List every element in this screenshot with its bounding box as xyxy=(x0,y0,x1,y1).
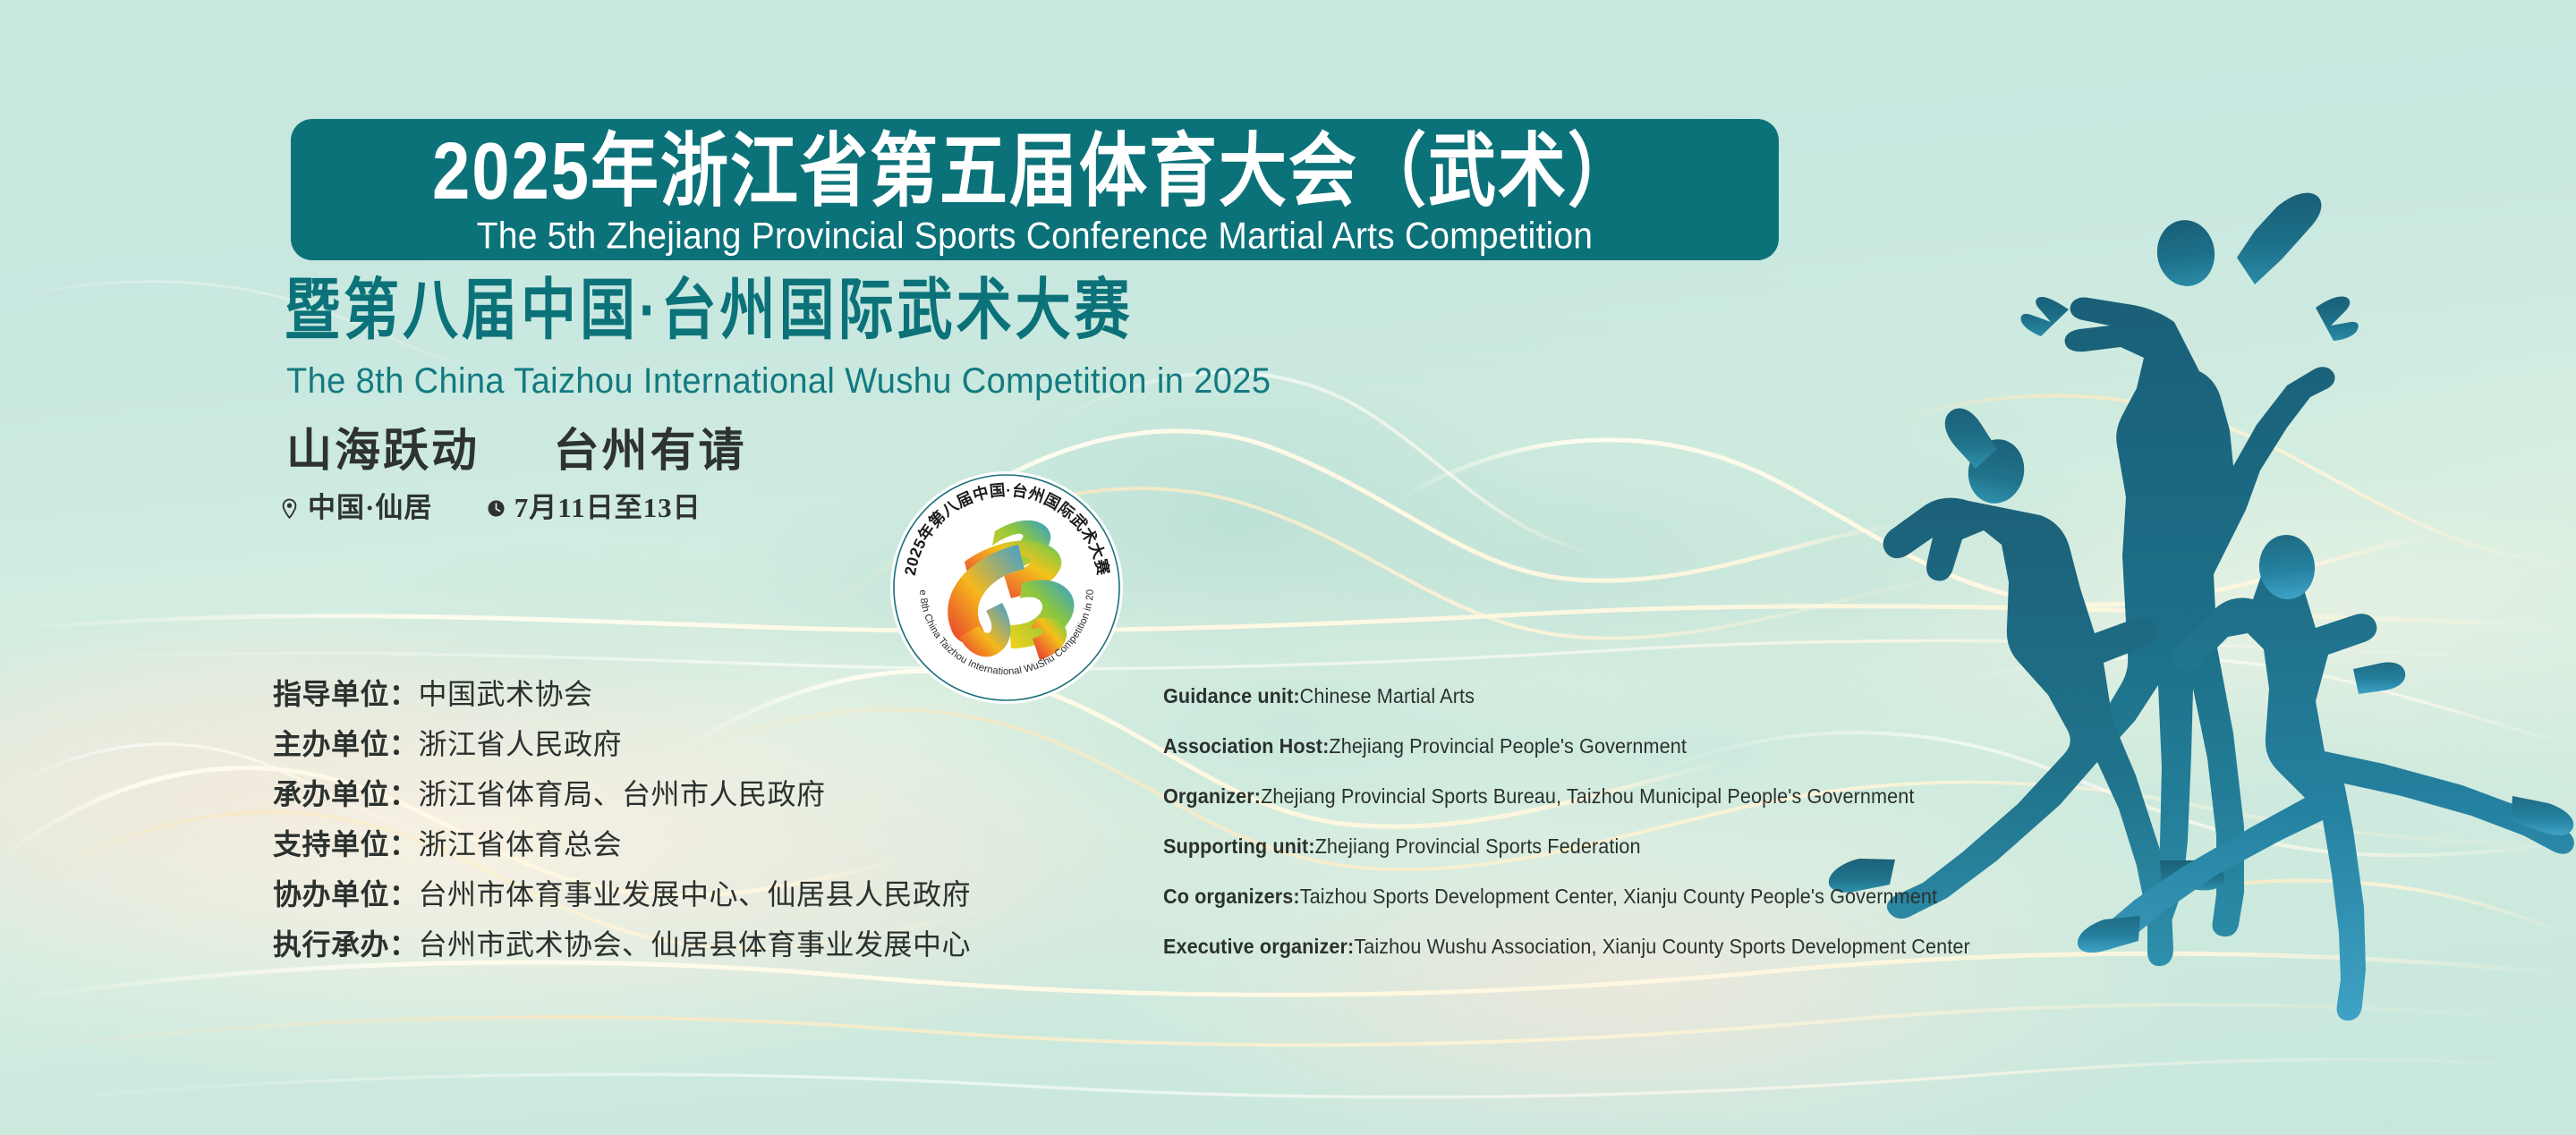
credit-label: Executive organizer: xyxy=(1163,935,1354,958)
credit-row: 主办单位：浙江省人民政府 xyxy=(273,719,971,769)
credit-label: Supporting unit: xyxy=(1163,834,1315,858)
slogan-part-1: 山海跃动 xyxy=(286,425,480,479)
event-meta-row: 中国·仙居 7月11日至13日 xyxy=(279,492,701,524)
event-location-text: 中国·仙居 xyxy=(308,492,432,524)
credit-value: Zhejiang Provincial People's Government xyxy=(1329,734,1687,758)
clock-icon xyxy=(486,498,506,519)
credit-value: 台州市体育事业发展中心、仙居县人民政府 xyxy=(419,878,972,911)
poster-canvas: 2025年浙江省第五届体育大会（武术） The 5th Zhejiang Pro… xyxy=(0,0,2576,1135)
credit-value: Taizhou Sports Development Center, Xianj… xyxy=(1300,885,1937,908)
subtitle-chinese: 暨第八届中国·台州国际武术大赛 xyxy=(285,273,1134,350)
credit-label: Organizer: xyxy=(1163,784,1261,808)
credit-value: 浙江省体育局、台州市人民政府 xyxy=(419,778,826,810)
event-location: 中国·仙居 xyxy=(279,492,432,524)
subtitle-english: The 8th China Taizhou International Wush… xyxy=(286,360,1271,402)
credit-label: 主办单位： xyxy=(273,728,419,760)
credit-label: 指导单位： xyxy=(273,678,419,710)
credit-label: 承办单位： xyxy=(273,778,419,810)
main-title-chinese: 2025年浙江省第五届体育大会（武术） xyxy=(309,117,1761,227)
credit-label: Association Host: xyxy=(1163,734,1329,758)
slogan-part-2: 台州有请 xyxy=(553,425,746,479)
credit-label: 支持单位： xyxy=(273,828,419,860)
event-date-text: 7月11日至13日 xyxy=(514,492,701,524)
credit-value: Taizhou Wushu Association, Xianju County… xyxy=(1354,935,1969,958)
main-title-english: The 5th Zhejiang Provincial Sports Confe… xyxy=(309,216,1761,258)
main-title-band: 2025年浙江省第五届体育大会（武术） The 5th Zhejiang Pro… xyxy=(291,119,1779,260)
credit-value: 台州市武术协会、仙居县体育事业发展中心 xyxy=(419,928,972,961)
credits-english-column: Guidance unit:Chinese Martial Arts Assoc… xyxy=(1163,671,2021,971)
credit-row: Co organizers:Taizhou Sports Development… xyxy=(1163,871,1970,921)
credit-row: Guidance unit:Chinese Martial Arts xyxy=(1163,671,1970,721)
credit-row: Executive organizer:Taizhou Wushu Associ… xyxy=(1163,921,1970,971)
credit-row: 承办单位：浙江省体育局、台州市人民政府 xyxy=(273,769,971,819)
event-date: 7月11日至13日 xyxy=(486,492,701,524)
credit-value: Chinese Martial Arts xyxy=(1300,684,1475,707)
credit-row: Organizer:Zhejiang Provincial Sports Bur… xyxy=(1163,771,1970,821)
credit-row: 指导单位：中国武术协会 xyxy=(273,669,971,719)
credit-label: Co organizers: xyxy=(1163,885,1300,908)
credit-value: 中国武术协会 xyxy=(419,678,593,710)
credit-row: 执行承办：台州市武术协会、仙居县体育事业发展中心 xyxy=(273,919,971,970)
slogan: 山海跃动 台州有请 xyxy=(286,425,746,479)
credit-value: Zhejiang Provincial Sports Bureau, Taizh… xyxy=(1261,784,1914,808)
credit-value: Zhejiang Provincial Sports Federation xyxy=(1315,834,1641,858)
credit-value: 浙江省体育总会 xyxy=(419,828,623,860)
credit-row: Supporting unit:Zhejiang Provincial Spor… xyxy=(1163,821,1970,871)
credit-value: 浙江省人民政府 xyxy=(419,728,623,760)
credit-row: 支持单位：浙江省体育总会 xyxy=(273,819,971,869)
credit-label: Guidance unit: xyxy=(1163,684,1300,707)
credit-row: Association Host:Zhejiang Provincial Peo… xyxy=(1163,721,1970,771)
credit-label: 协办单位： xyxy=(273,878,419,911)
credits-chinese-column: 指导单位：中国武术协会 主办单位：浙江省人民政府 承办单位：浙江省体育局、台州市… xyxy=(273,669,971,970)
location-pin-icon xyxy=(279,498,300,519)
credit-label: 执行承办： xyxy=(273,928,419,961)
credit-row: 协办单位：台州市体育事业发展中心、仙居县人民政府 xyxy=(273,869,971,919)
